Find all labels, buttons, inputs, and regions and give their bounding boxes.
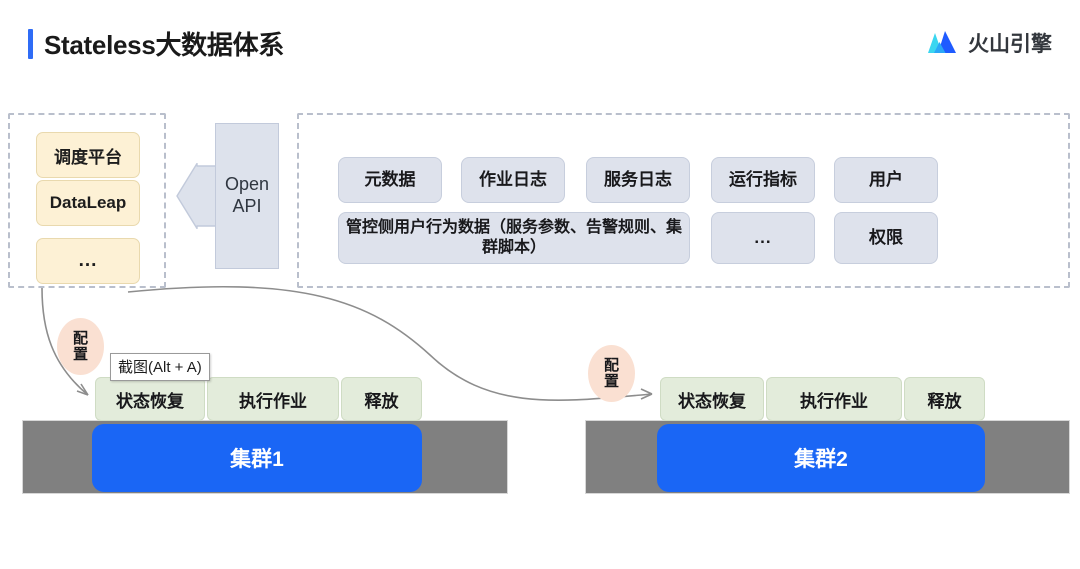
slide-canvas: Stateless大数据体系 火山引擎 调度平台 DataLeap ... Op… bbox=[0, 0, 1080, 569]
stage-label: 执行作业 bbox=[239, 387, 307, 412]
cluster-label: 集群2 bbox=[794, 443, 848, 473]
data-chip-label: 用户 bbox=[869, 169, 903, 190]
stage-label: 状态恢复 bbox=[116, 387, 184, 412]
platform-box-scheduler[interactable]: 调度平台 bbox=[36, 132, 140, 178]
cluster1-stage-run-job[interactable]: 执行作业 bbox=[207, 377, 339, 421]
data-chip-label: 运行指标 bbox=[729, 169, 797, 190]
connector-arrowhead-cluster1 bbox=[77, 384, 88, 395]
platform-box-more[interactable]: ... bbox=[36, 238, 140, 284]
cluster-box-1[interactable]: 集群1 bbox=[92, 424, 422, 492]
config-bubble-cluster1: 配 置 bbox=[57, 318, 104, 375]
data-chip-label: 管控侧用户行为数据（服务参数、告警规则、集群脚本） bbox=[343, 218, 685, 258]
stage-label: 状态恢复 bbox=[678, 387, 746, 412]
cluster2-stage-run-job[interactable]: 执行作业 bbox=[766, 377, 902, 421]
config-bubble-line2: 置 bbox=[73, 347, 88, 363]
connector-arrowhead-cluster2 bbox=[641, 389, 652, 399]
data-chip-label: 元数据 bbox=[365, 169, 416, 190]
data-chip-label: 作业日志 bbox=[479, 169, 547, 190]
title-label: Stateless大数据体系 bbox=[44, 25, 284, 62]
cluster-label: 集群1 bbox=[230, 443, 284, 473]
platform-box-label: 调度平台 bbox=[54, 143, 122, 168]
brand-name: 火山引擎 bbox=[968, 28, 1052, 58]
page-title: Stateless大数据体系 bbox=[28, 25, 284, 62]
open-api-arrow-icon bbox=[176, 163, 220, 229]
platform-box-label: DataLeap bbox=[50, 193, 127, 213]
open-api-label-line1: Open bbox=[225, 174, 269, 196]
title-accent-bar bbox=[28, 29, 33, 59]
cluster1-stage-state-restore[interactable]: 状态恢复 bbox=[95, 377, 205, 421]
stage-label: 释放 bbox=[928, 387, 962, 412]
data-chip-user-behavior[interactable]: 管控侧用户行为数据（服务参数、告警规则、集群脚本） bbox=[338, 212, 690, 264]
config-bubble-cluster2: 配 置 bbox=[588, 345, 635, 402]
config-bubble-line1: 配 bbox=[604, 358, 619, 374]
data-chip-service-log[interactable]: 服务日志 bbox=[586, 157, 690, 203]
open-api-block[interactable]: Open API bbox=[215, 123, 279, 269]
config-bubble-line2: 置 bbox=[604, 374, 619, 390]
data-chip-label: 权限 bbox=[869, 227, 903, 248]
open-api-label-line2: API bbox=[232, 196, 261, 218]
data-chip-job-log[interactable]: 作业日志 bbox=[461, 157, 565, 203]
stage-label: 释放 bbox=[365, 387, 399, 412]
data-chip-label: ... bbox=[754, 227, 771, 248]
data-chip-more[interactable]: ... bbox=[711, 212, 815, 264]
config-bubble-line1: 配 bbox=[73, 331, 88, 347]
data-chip-permission[interactable]: 权限 bbox=[834, 212, 938, 264]
screenshot-tooltip: 截图(Alt + A) bbox=[110, 353, 210, 381]
data-chip-runtime-metrics[interactable]: 运行指标 bbox=[711, 157, 815, 203]
data-chip-label: 服务日志 bbox=[604, 169, 672, 190]
data-chip-user[interactable]: 用户 bbox=[834, 157, 938, 203]
brand-logo: 火山引擎 bbox=[925, 28, 1052, 58]
data-chip-metadata[interactable]: 元数据 bbox=[338, 157, 442, 203]
cluster2-stage-release[interactable]: 释放 bbox=[904, 377, 985, 421]
stage-label: 执行作业 bbox=[800, 387, 868, 412]
volcano-mountain-icon bbox=[925, 30, 959, 56]
platform-box-dataleap[interactable]: DataLeap bbox=[36, 180, 140, 226]
platform-box-label: ... bbox=[79, 250, 98, 272]
cluster1-stage-release[interactable]: 释放 bbox=[341, 377, 422, 421]
screenshot-tooltip-label: 截图(Alt + A) bbox=[118, 359, 202, 376]
cluster2-stage-state-restore[interactable]: 状态恢复 bbox=[660, 377, 764, 421]
cluster-box-2[interactable]: 集群2 bbox=[657, 424, 985, 492]
